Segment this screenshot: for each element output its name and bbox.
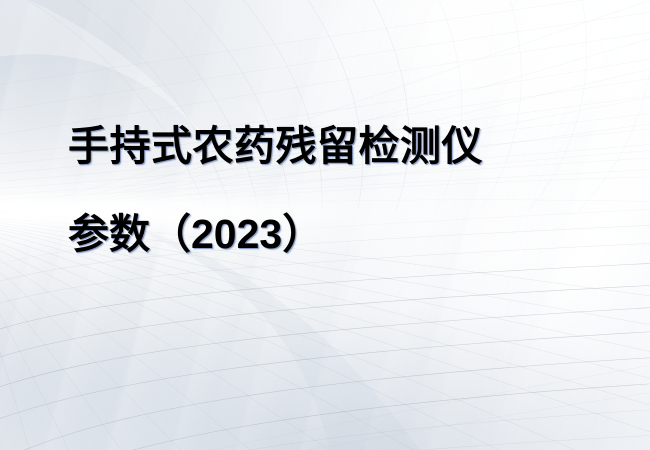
title-line-2: 参数（2023） — [68, 214, 588, 255]
title-slide: 手持式农药残留检测仪 参数（2023） — [0, 0, 650, 450]
title-block: 手持式农药残留检测仪 参数（2023） — [68, 126, 588, 255]
title-line-1: 手持式农药残留检测仪 — [68, 126, 588, 167]
